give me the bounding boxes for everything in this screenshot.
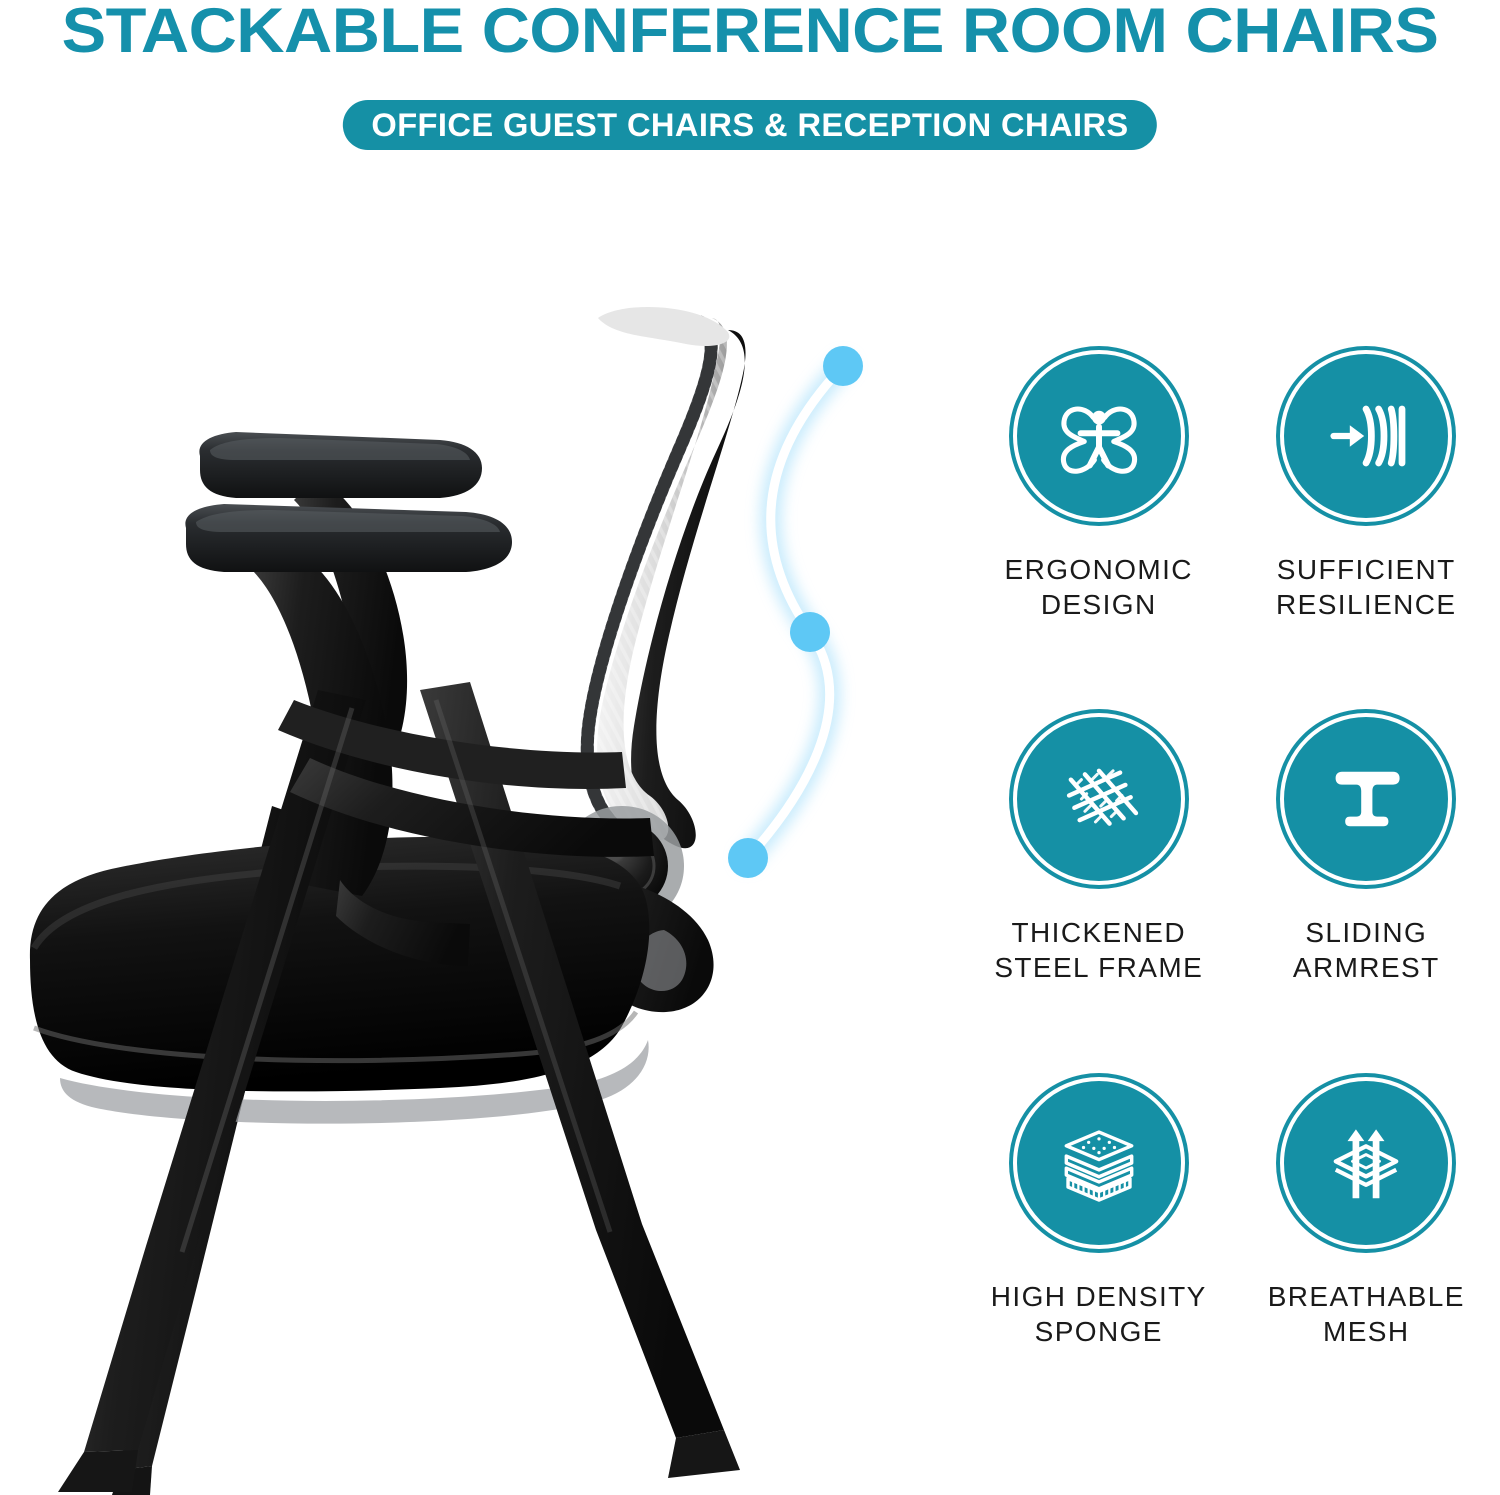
- breathable-mesh-icon: [1324, 1121, 1408, 1205]
- feature-thickened-steel-frame[interactable]: THICKENED STEEL FRAME: [965, 713, 1233, 1076]
- feature-sliding-armrest[interactable]: SLIDING ARMREST: [1233, 713, 1500, 1076]
- thickened-steel-frame-badge: [1013, 713, 1185, 885]
- page-title: STACKABLE CONFERENCE ROOM CHAIRS: [0, 0, 1500, 64]
- feature-breathable-mesh[interactable]: BREATHABLE MESH: [1233, 1077, 1500, 1440]
- lower-armrest-pad: [185, 504, 512, 572]
- feature-label: ERGONOMIC DESIGN: [1005, 552, 1193, 622]
- feature-high-density-sponge[interactable]: HIGH DENSITY SPONGE: [965, 1077, 1233, 1440]
- subtitle-pill: OFFICE GUEST CHAIRS & RECEPTION CHAIRS: [343, 100, 1157, 150]
- thickened-steel-frame-icon: [1055, 755, 1143, 843]
- feature-label: HIGH DENSITY SPONGE: [991, 1279, 1207, 1349]
- feature-grid: ERGONOMIC DESIGN SUFFICIENT RESILIENCE: [965, 350, 1500, 1440]
- high-density-sponge-badge: [1013, 1077, 1185, 1249]
- feature-ergonomic-design[interactable]: ERGONOMIC DESIGN: [965, 350, 1233, 713]
- feature-sufficient-resilience[interactable]: SUFFICIENT RESILIENCE: [1233, 350, 1500, 713]
- ergonomic-s-curve: [728, 346, 863, 878]
- feature-label: SUFFICIENT RESILIENCE: [1276, 552, 1457, 622]
- product-photo: [0, 175, 960, 1495]
- curve-dot-top: [823, 346, 863, 386]
- header-banner: STACKABLE CONFERENCE ROOM CHAIRS OFFICE …: [0, 0, 1500, 175]
- sliding-armrest-icon: [1326, 759, 1406, 839]
- high-density-sponge-icon: [1056, 1120, 1142, 1206]
- sufficient-resilience-icon: [1321, 391, 1411, 481]
- feature-label: THICKENED STEEL FRAME: [994, 915, 1203, 985]
- sufficient-resilience-badge: [1280, 350, 1452, 522]
- ergonomic-design-badge: [1013, 350, 1185, 522]
- chair-illustration: [0, 175, 960, 1495]
- breathable-mesh-badge: [1280, 1077, 1452, 1249]
- feature-label: BREATHABLE MESH: [1268, 1279, 1465, 1349]
- subtitle-text: OFFICE GUEST CHAIRS & RECEPTION CHAIRS: [371, 109, 1128, 141]
- upper-armrest-pad: [199, 432, 482, 498]
- curve-dot-middle: [790, 612, 830, 652]
- sliding-armrest-badge: [1280, 713, 1452, 885]
- feature-label: SLIDING ARMREST: [1293, 915, 1440, 985]
- curve-dot-bottom: [728, 838, 768, 878]
- ergonomic-design-icon: [1053, 390, 1145, 482]
